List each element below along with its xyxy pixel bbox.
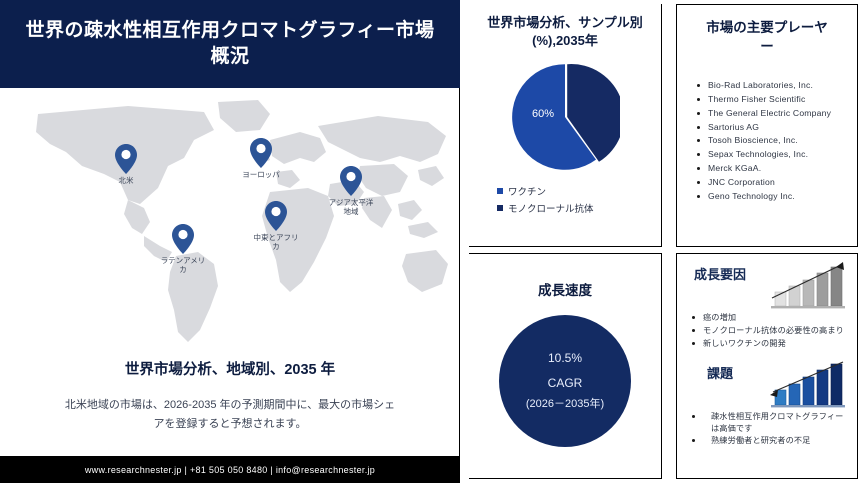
- list-item: JNC Corporation: [697, 176, 851, 190]
- pie-data-label: 60%: [532, 108, 554, 120]
- growth-rate-title: 成長速度: [469, 254, 661, 301]
- cagr-circle: 10.5% CAGR (2026－2035年): [499, 315, 631, 447]
- challenges-list: 疎水性相互作用クロマトグラフィーは高価です 熟練労働者と研究者の不足: [677, 411, 857, 448]
- challenges-block: 課題 疎水性相互作用クロマトグラフィーは高価です 熟練労働者と研究者の不足: [677, 351, 857, 448]
- map-pin-label: ヨーロッパ: [238, 170, 284, 179]
- legend-label: モノクローナル抗体: [508, 201, 594, 215]
- ascending-bar-chart-gray-icon: [765, 260, 849, 310]
- growth-drivers-list: 癌の増加 モノクローナル抗体の必要性の高まり 新しいワクチンの開発: [677, 312, 857, 350]
- pie-chart-svg: [510, 62, 620, 172]
- list-item: 疎水性相互作用クロマトグラフィーは高価です: [691, 411, 851, 435]
- list-item: Bio-Rad Laboratories, Inc.: [697, 79, 851, 93]
- legend-swatch-icon: [497, 205, 503, 211]
- growth-drivers-title: 成長要因: [677, 266, 763, 284]
- world-map-svg: [8, 96, 452, 344]
- list-item: Geno Technology Inc.: [697, 190, 851, 204]
- region-analysis-title: 世界市場分析、地域別、2035 年: [0, 358, 460, 379]
- list-item: モノクローナル抗体の必要性の高まり: [691, 325, 851, 337]
- map-pin-label: 中東とアフリカ: [253, 233, 299, 252]
- list-item: 新しいワクチンの開発: [691, 338, 851, 350]
- list-item: Merck KGaA.: [697, 162, 851, 176]
- footer-bar: www.researchnester.jp | +81 505 050 8480…: [0, 456, 460, 483]
- cagr-circle-fill: 10.5% CAGR (2026－2035年): [499, 315, 631, 447]
- cagr-period: (2026－2035年): [526, 395, 604, 411]
- growth-drivers-title-wrap: 成長要因: [677, 260, 763, 284]
- header-banner: 世界の疎水性相互作用クロマトグラフィー市場概況: [0, 0, 460, 88]
- list-item: 癌の増加: [691, 312, 851, 324]
- map-pin-label: アジア太平洋地域: [328, 198, 374, 217]
- drivers-challenges-panel: 成長要因 癌の増加 モノクローナル抗体の必要性の高まり 新しいワクチンの開発: [676, 253, 858, 479]
- pie-legend: ワクチン モノクローナル抗体: [497, 184, 661, 215]
- location-pin-icon: [340, 166, 362, 196]
- list-item: Sepax Technologies, Inc.: [697, 148, 851, 162]
- location-pin-icon: [115, 144, 137, 174]
- challenges-title-wrap: 課題: [677, 359, 763, 383]
- challenges-header: 課題: [677, 359, 857, 409]
- list-item: Sartorius AG: [697, 121, 851, 135]
- ascending-bar-chart-blue-icon: [765, 359, 849, 409]
- location-pin-icon: [250, 138, 272, 168]
- legend-item-vaccine: ワクチン: [497, 184, 661, 198]
- list-item: The General Electric Company: [697, 107, 851, 121]
- list-item: Thermo Fisher Scientific: [697, 93, 851, 107]
- pie-chart: 60%: [510, 62, 620, 172]
- world-map: 北米 ヨーロッパ アジア太平洋地域: [8, 96, 452, 344]
- left-panel: 世界の疎水性相互作用クロマトグラフィー市場概況: [0, 0, 460, 483]
- pie-chart-title: 世界市場分析、サンプル別(%),2035年: [469, 4, 661, 50]
- cagr-value: 10.5%: [548, 351, 582, 365]
- map-pin-label: ラテンアメリカ: [160, 256, 206, 275]
- region-analysis-description: 北米地域の市場は、2026-2035 年の予測期間中に、最大の市場シェアを登録す…: [64, 396, 396, 433]
- key-players-list: Bio-Rad Laboratories, Inc. Thermo Fisher…: [677, 79, 857, 204]
- legend-label: ワクチン: [508, 184, 546, 198]
- map-pin-label: 北米: [103, 176, 149, 185]
- key-players-title: 市場の主要プレーヤー: [677, 5, 857, 57]
- location-pin-icon: [172, 224, 194, 254]
- page-title: 世界の疎水性相互作用クロマトグラフィー市場概況: [0, 18, 460, 69]
- location-pin-icon: [265, 201, 287, 231]
- growth-drivers-block: 成長要因 癌の増加 モノクローナル抗体の必要性の高まり 新しいワクチンの開発: [677, 254, 857, 350]
- legend-item-mab: モノクローナル抗体: [497, 201, 661, 215]
- growth-rate-panel: 成長速度 10.5% CAGR (2026－2035年): [469, 253, 662, 479]
- challenges-title: 課題: [677, 365, 763, 383]
- footer-contact-text: www.researchnester.jp | +81 505 050 8480…: [85, 465, 375, 475]
- cagr-metric-label: CAGR: [548, 376, 583, 390]
- key-players-panel: 市場の主要プレーヤー Bio-Rad Laboratories, Inc. Th…: [676, 4, 858, 247]
- list-item: 熟練労働者と研究者の不足: [691, 435, 851, 447]
- legend-swatch-icon: [497, 188, 503, 194]
- list-item: Tosoh Bioscience, Inc.: [697, 134, 851, 148]
- infographic-root: 世界の疎水性相互作用クロマトグラフィー市場概況: [0, 0, 862, 483]
- growth-drivers-header: 成長要因: [677, 260, 857, 310]
- pie-chart-panel: 世界市場分析、サンプル別(%),2035年 60% ワクチン モノクローナル抗体: [469, 4, 662, 247]
